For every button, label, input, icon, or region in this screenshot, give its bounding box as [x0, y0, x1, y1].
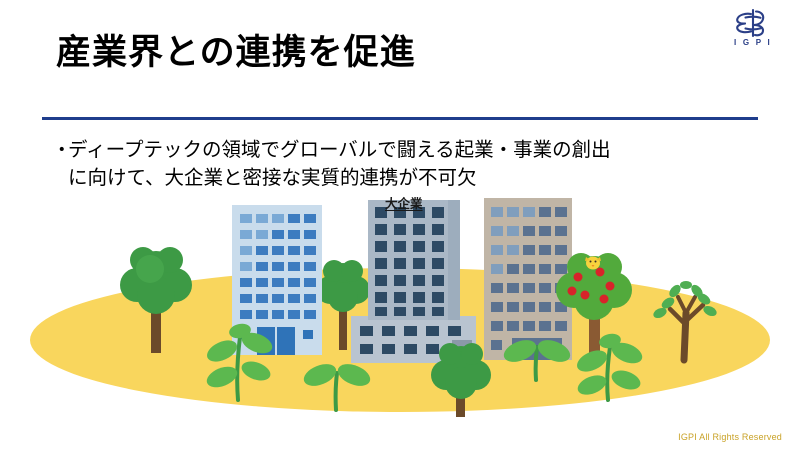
page-title: 産業界との連携を促進 [56, 32, 416, 74]
illustration-canvas [0, 185, 800, 430]
city-illustration [0, 185, 800, 430]
bullet-marker: ・ [52, 136, 72, 164]
igpi-logo: I G P I [722, 8, 784, 52]
slide-root: I G P I 産業界との連携を促進 ・ ディープテックの領域でグローバルで闘え… [0, 0, 800, 450]
igpi-wordmark: I G P I [722, 39, 784, 47]
center-corporate-tower [351, 200, 476, 363]
igpi-swirl-icon [732, 8, 774, 38]
title-divider [42, 117, 758, 120]
right-office-building [484, 198, 572, 360]
footer-copyright: IGPI All Rights Reserved [678, 432, 782, 442]
body-line-1: ディープテックの領域でグローバルで闘える起業・事業の創出 [68, 136, 762, 164]
corp-label: 大企業 [385, 193, 423, 212]
